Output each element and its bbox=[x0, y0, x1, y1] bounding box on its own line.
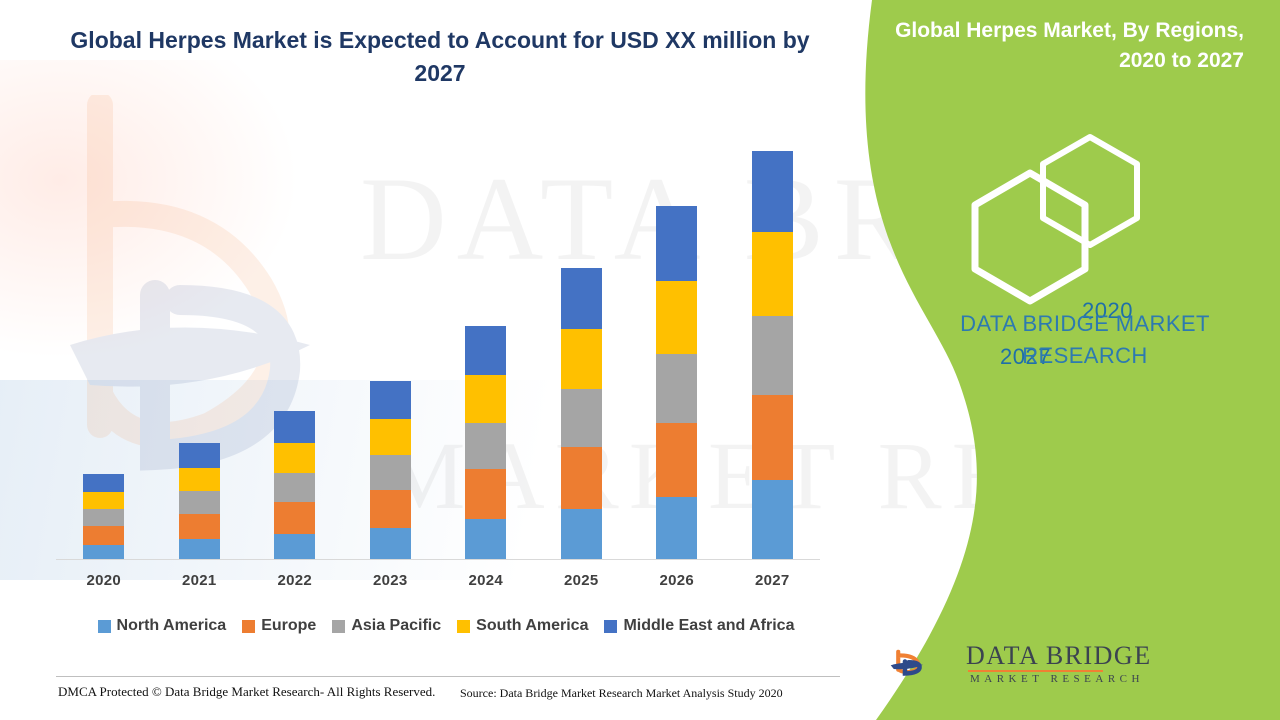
bar-segment bbox=[465, 423, 506, 469]
bar-segment bbox=[179, 468, 220, 491]
hexagon-2027-icon bbox=[975, 173, 1085, 301]
legend-label: North America bbox=[117, 617, 227, 635]
page-title: Global Herpes Market is Expected to Acco… bbox=[60, 24, 820, 89]
logo-subwordmark: MARKET RESEARCH bbox=[970, 673, 1144, 685]
bar-segment bbox=[656, 497, 697, 559]
hexagon-group: 2020 2027 bbox=[840, 125, 1280, 305]
bar-segment bbox=[370, 490, 411, 528]
legend-item[interactable]: South America bbox=[457, 617, 588, 635]
legend-item[interactable]: Middle East and Africa bbox=[604, 617, 794, 635]
bar-segment bbox=[370, 528, 411, 559]
legend-swatch-icon bbox=[457, 620, 470, 633]
bar-column-2023 bbox=[343, 121, 439, 559]
bar-segment bbox=[561, 509, 602, 559]
bar-column-2024 bbox=[438, 121, 534, 559]
x-axis-label-2026: 2026 bbox=[629, 572, 725, 589]
bar-segment bbox=[274, 411, 315, 443]
bar-stack bbox=[561, 268, 602, 559]
legend-label: South America bbox=[476, 617, 588, 635]
bar-column-2020 bbox=[56, 121, 152, 559]
bar-segment bbox=[179, 514, 220, 539]
infographic-canvas: DATA BRIDGE MARKET RESEARCH Global Herpe… bbox=[0, 0, 1280, 720]
bar-segment bbox=[370, 419, 411, 455]
bar-segment bbox=[561, 389, 602, 447]
bar-column-2021 bbox=[152, 121, 248, 559]
bar-segment bbox=[83, 545, 124, 559]
bar-segment bbox=[561, 447, 602, 508]
x-axis-labels: 20202021202220232024202520262027 bbox=[56, 572, 820, 589]
databridge-logo-icon bbox=[890, 632, 976, 694]
bar-segment bbox=[561, 329, 602, 389]
bar-stack bbox=[465, 326, 506, 559]
x-axis-label-2027: 2027 bbox=[725, 572, 821, 589]
bar-segment bbox=[274, 534, 315, 559]
bar-column-2022 bbox=[247, 121, 343, 559]
bar-stack bbox=[274, 411, 315, 559]
bar-segment bbox=[83, 509, 124, 527]
chart-plot-area bbox=[56, 120, 836, 560]
footer-source-text: Source: Data Bridge Market Research Mark… bbox=[460, 686, 783, 701]
bar-segment bbox=[83, 526, 124, 545]
bar-segment bbox=[656, 206, 697, 280]
bar-segment bbox=[561, 268, 602, 329]
legend-swatch-icon bbox=[604, 620, 617, 633]
legend-label: Europe bbox=[261, 617, 316, 635]
bar-segment bbox=[656, 354, 697, 423]
bar-stack bbox=[370, 381, 411, 559]
legend-label: Middle East and Africa bbox=[623, 617, 794, 635]
legend-swatch-icon bbox=[242, 620, 255, 633]
bar-series-container bbox=[56, 121, 820, 559]
legend-label: Asia Pacific bbox=[351, 617, 441, 635]
legend-item[interactable]: Asia Pacific bbox=[332, 617, 441, 635]
legend-item[interactable]: Europe bbox=[242, 617, 316, 635]
bar-segment bbox=[83, 492, 124, 508]
footer-dmca-text: DMCA Protected © Data Bridge Market Rese… bbox=[58, 684, 435, 700]
bar-segment bbox=[465, 375, 506, 423]
right-green-panel: Global Herpes Market, By Regions, 2020 t… bbox=[840, 0, 1280, 720]
bar-segment bbox=[656, 423, 697, 496]
x-axis-line bbox=[56, 559, 820, 560]
bar-column-2027 bbox=[725, 121, 821, 559]
bar-column-2026 bbox=[629, 121, 725, 559]
hexagon-shapes-icon bbox=[840, 125, 1280, 305]
bar-segment bbox=[752, 316, 793, 395]
legend-swatch-icon bbox=[98, 620, 111, 633]
logo-wordmark: DATA BRIDGE bbox=[966, 641, 1152, 671]
bar-stack bbox=[656, 206, 697, 559]
bar-segment bbox=[465, 519, 506, 560]
chart-legend: North AmericaEuropeAsia PacificSouth Ame… bbox=[56, 617, 836, 635]
bar-segment bbox=[370, 455, 411, 490]
logo-underline bbox=[968, 670, 1103, 672]
x-axis-label-2024: 2024 bbox=[438, 572, 534, 589]
bar-segment bbox=[656, 281, 697, 354]
bar-segment bbox=[274, 443, 315, 473]
bar-stack bbox=[83, 474, 124, 559]
x-axis-label-2022: 2022 bbox=[247, 572, 343, 589]
bar-segment bbox=[274, 473, 315, 503]
bar-segment bbox=[752, 480, 793, 559]
bar-segment bbox=[179, 491, 220, 514]
bar-segment bbox=[752, 151, 793, 232]
bar-segment bbox=[465, 469, 506, 518]
legend-swatch-icon bbox=[332, 620, 345, 633]
bar-segment bbox=[370, 381, 411, 419]
bar-segment bbox=[274, 502, 315, 534]
x-axis-label-2023: 2023 bbox=[343, 572, 439, 589]
panel-title: Global Herpes Market, By Regions, 2020 t… bbox=[874, 16, 1244, 77]
bar-stack bbox=[752, 151, 793, 559]
x-axis-label-2021: 2021 bbox=[152, 572, 248, 589]
x-axis-label-2020: 2020 bbox=[56, 572, 152, 589]
bar-segment bbox=[179, 539, 220, 559]
footer-divider bbox=[56, 676, 840, 677]
bar-segment bbox=[752, 395, 793, 480]
legend-item[interactable]: North America bbox=[98, 617, 227, 635]
panel-brand-text: DATA BRIDGE MARKET RESEARCH bbox=[900, 308, 1270, 372]
bar-stack bbox=[179, 443, 220, 559]
bar-segment bbox=[465, 326, 506, 375]
bar-segment bbox=[752, 232, 793, 316]
bar-column-2025 bbox=[534, 121, 630, 559]
x-axis-label-2025: 2025 bbox=[534, 572, 630, 589]
bar-segment bbox=[179, 443, 220, 468]
bar-segment bbox=[83, 474, 124, 493]
